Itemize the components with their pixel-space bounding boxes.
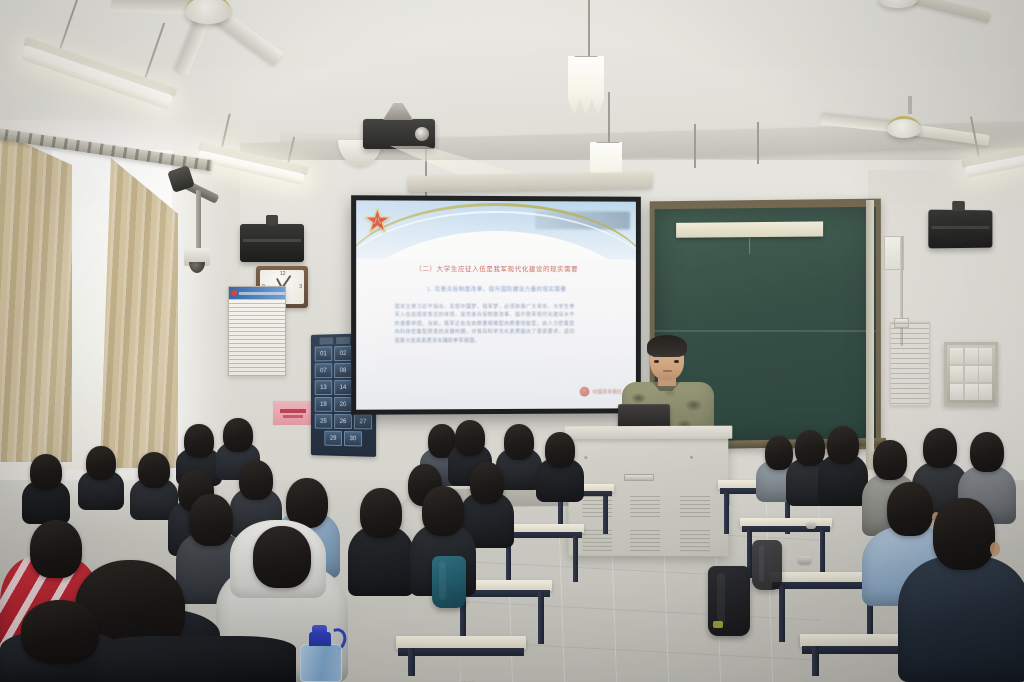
- backpack-strap: [717, 573, 725, 625]
- student-head: [138, 452, 170, 488]
- backpack: [752, 540, 782, 590]
- breaker-cell: [950, 348, 963, 364]
- student: [536, 432, 584, 502]
- backpack-strap: [759, 545, 764, 582]
- pocket-cell[interactable]: 26: [334, 414, 352, 429]
- lectern-vent: [630, 530, 660, 552]
- lamp-wire: [608, 92, 610, 144]
- speaker-bracket: [952, 201, 965, 211]
- student-torso: [96, 636, 296, 682]
- pocket-cell[interactable]: 13: [315, 380, 332, 395]
- sign-line-1: [280, 409, 306, 413]
- pink-warning-sign: [272, 400, 314, 426]
- pocket-cell[interactable]: 07: [315, 363, 332, 378]
- slide-surface: 八 （二）大学生应征入伍是我军现代化建设的现实需要 1. 完善兵役制度改革，提升…: [356, 200, 636, 409]
- notice-header: [229, 287, 285, 299]
- lamp-wire: [588, 0, 590, 58]
- slide-title: （二）大学生应征入伍是我军现代化建设的现实需要: [356, 263, 636, 274]
- student-head: [827, 426, 859, 464]
- lectern-top: [565, 426, 733, 440]
- notice-header-line: [239, 292, 285, 295]
- blackboard-banner: [676, 221, 823, 237]
- lamp-wire: [757, 122, 759, 164]
- clock-number: 12: [280, 271, 286, 277]
- student: [898, 498, 1024, 682]
- lectern-vent: [680, 496, 710, 518]
- svg-text:八: 八: [373, 217, 381, 226]
- wall-speaker-right: [928, 210, 992, 249]
- breaker-cell: [965, 384, 978, 400]
- ceiling-fan: [826, 108, 994, 154]
- slide-body-text: 国家主席习近平指出，实现中国梦，强军梦，必须依靠广大青年。大学生参军入伍是国家意…: [395, 303, 575, 345]
- breaker-cell: [950, 384, 963, 400]
- breaker-cell: [979, 348, 992, 364]
- breaker-grid: [950, 348, 992, 400]
- slide-subtitle: 1. 完善兵役制度改革，提升国防建设力量的现实需要: [356, 285, 636, 293]
- ceiling-projector: [363, 119, 435, 149]
- student-head: [86, 446, 116, 480]
- projection-screen[interactable]: 八 （二）大学生应征入伍是我军现代化建设的现实需要 1. 完善兵役制度改革，提升…: [351, 195, 641, 415]
- desk-apron: [742, 526, 830, 532]
- breaker-cell: [950, 366, 963, 382]
- desk-apron: [502, 532, 582, 538]
- desk-leg: [812, 646, 819, 676]
- backpack: [432, 556, 466, 608]
- student-head: [933, 498, 995, 570]
- logo-text: 中国青年报社: [592, 388, 622, 395]
- student: [78, 446, 124, 510]
- student-head: [873, 440, 907, 480]
- backpack-tag: [713, 621, 723, 628]
- paper-notice: [890, 322, 930, 406]
- student-head: [545, 432, 575, 468]
- student-head: [223, 418, 253, 452]
- pocket-cell[interactable]: 29: [324, 431, 342, 446]
- organizer-header-cell: [336, 337, 350, 344]
- bottle-cap[interactable]: [312, 625, 327, 634]
- fan-blade: [909, 124, 990, 146]
- student-head: [21, 600, 99, 664]
- instructor-eye: [654, 360, 659, 363]
- pocket-cell[interactable]: 20: [334, 397, 352, 412]
- student-head: [923, 428, 957, 468]
- speaker-bracket: [266, 215, 278, 225]
- lectern-screw: [690, 456, 693, 459]
- fan-hub: [185, 0, 231, 24]
- classroom-scene: 12 3 6 9 01 02 03 07: [0, 0, 1024, 682]
- student-head: [253, 526, 311, 588]
- instructor-mouth: [663, 370, 672, 372]
- bayi-star-emblem: 八: [364, 207, 390, 233]
- backpack-strap: [439, 561, 445, 599]
- lectern-vent: [680, 530, 710, 552]
- student: [348, 488, 414, 596]
- speaker-grille: [931, 226, 989, 229]
- student-head: [184, 424, 214, 458]
- clock-number: 3: [299, 284, 302, 290]
- fan-hub: [878, 0, 918, 8]
- instructor-brow: [653, 355, 661, 357]
- organizer-row: 29 30: [313, 430, 374, 446]
- student-head: [30, 454, 62, 490]
- fan-hub: [887, 116, 921, 138]
- curtain-left: [0, 132, 72, 462]
- pocket-cell[interactable]: 30: [344, 431, 362, 446]
- instructor-hair: [647, 335, 687, 357]
- lectern-screw: [584, 456, 587, 459]
- pocket-cell[interactable]: 01: [315, 346, 332, 361]
- ceiling-fan: [118, 0, 298, 44]
- desk-apron: [398, 648, 524, 656]
- desk-leg: [779, 584, 785, 642]
- pocket-cell[interactable]: 02: [334, 346, 352, 361]
- slide-header-band: [356, 200, 636, 259]
- backpack: [708, 566, 750, 636]
- student-head: [504, 424, 534, 460]
- pendant-light: [568, 56, 604, 116]
- breaker-cell: [979, 384, 992, 400]
- student: [818, 426, 868, 506]
- water-bottle[interactable]: [300, 626, 342, 682]
- instructor-brow: [672, 355, 680, 357]
- student-head: [360, 488, 402, 538]
- ceiling-fan: [806, 0, 996, 22]
- notice-text-lines: [229, 299, 285, 375]
- sign-line-2: [283, 415, 303, 418]
- camera-pole: [196, 190, 201, 252]
- bottle-neck: [309, 632, 331, 646]
- electrical-panel[interactable]: [944, 342, 998, 406]
- breaker-cell: [979, 366, 992, 382]
- notice-board: [228, 286, 286, 376]
- pocket-cell[interactable]: 14: [334, 380, 352, 395]
- speaker-grille: [243, 239, 301, 242]
- desk-object: [806, 522, 816, 529]
- logo-mark-icon: [580, 387, 590, 397]
- fan-rod: [908, 96, 912, 114]
- slide-footer-logo: 中国青年报社: [580, 387, 623, 397]
- student-torso: [898, 556, 1024, 682]
- organizer-header-cell: [320, 337, 334, 344]
- desk-leg: [573, 536, 578, 582]
- curtain-right: [100, 158, 178, 468]
- pocket-cell[interactable]: 08: [334, 363, 352, 378]
- wall-speaker-left: [240, 224, 304, 262]
- student-foreground: [96, 636, 296, 682]
- desk-object: [798, 556, 811, 564]
- desk-leg: [538, 592, 544, 644]
- desk-leg: [603, 496, 608, 534]
- student-head: [422, 486, 464, 536]
- bottle-body: [300, 644, 342, 682]
- pocket-cell[interactable]: 19: [315, 397, 332, 412]
- desk-leg: [408, 648, 415, 676]
- breaker-cell: [965, 366, 978, 382]
- desk-leg: [820, 530, 825, 578]
- lectern-latch[interactable]: [624, 474, 654, 481]
- desk-leg: [724, 492, 729, 534]
- student-desk: [396, 636, 526, 682]
- projector-lens: [415, 127, 429, 141]
- pocket-cell[interactable]: 25: [315, 414, 332, 429]
- notice-dot-icon: [231, 290, 237, 296]
- breaker-cell: [965, 348, 978, 364]
- banner-wire: [749, 238, 750, 254]
- pocket-cell[interactable]: 27: [354, 414, 372, 429]
- student-head: [970, 432, 1004, 472]
- instructor-eye: [674, 360, 679, 363]
- student: [22, 454, 70, 524]
- lamp-wire: [694, 124, 696, 168]
- blackboard-seam: [655, 330, 876, 332]
- student-head: [455, 420, 485, 456]
- organizer-row: 25 26 27: [313, 414, 374, 430]
- lectern-vent: [630, 496, 660, 518]
- student-ear: [990, 542, 1000, 556]
